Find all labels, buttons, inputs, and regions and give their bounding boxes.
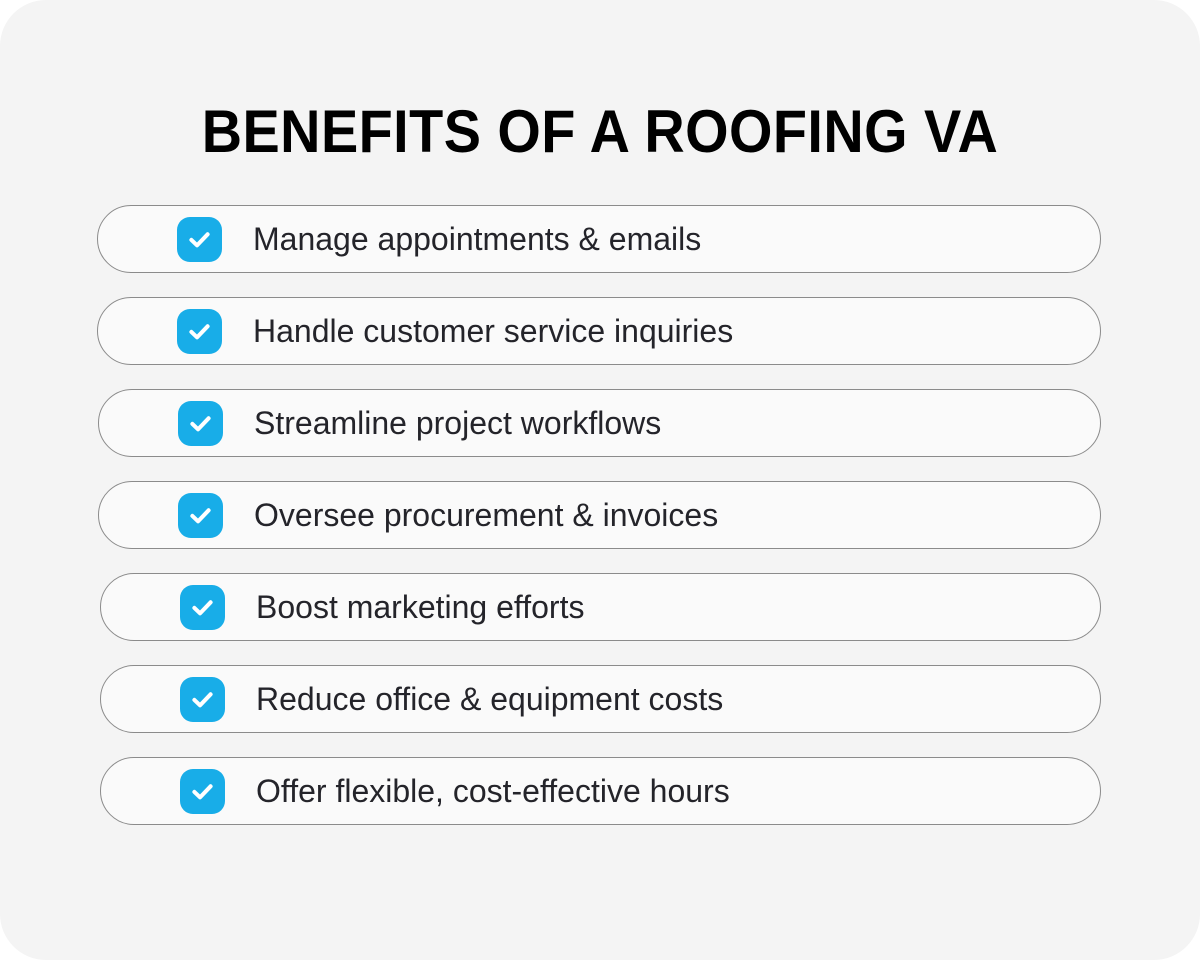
list-item[interactable]: Oversee procurement & invoices: [98, 481, 1101, 549]
check-icon: [180, 585, 225, 630]
check-icon: [177, 309, 222, 354]
list-item-label: Handle customer service inquiries: [253, 312, 733, 350]
check-icon: [180, 769, 225, 814]
list-item[interactable]: Boost marketing efforts: [100, 573, 1101, 641]
list-item-label: Streamline project workflows: [254, 404, 661, 442]
benefits-card: BENEFITS OF A ROOFING VA Manage appointm…: [0, 0, 1200, 960]
list-item[interactable]: Offer flexible, cost-effective hours: [100, 757, 1101, 825]
list-item[interactable]: Reduce office & equipment costs: [100, 665, 1101, 733]
list-item[interactable]: Handle customer service inquiries: [97, 297, 1101, 365]
check-icon: [177, 217, 222, 262]
check-icon: [180, 677, 225, 722]
list-item-label: Manage appointments & emails: [253, 220, 701, 258]
list-item-label: Offer flexible, cost-effective hours: [256, 772, 730, 810]
list-item-label: Reduce office & equipment costs: [256, 680, 723, 718]
check-icon: [178, 493, 223, 538]
check-icon: [178, 401, 223, 446]
list-item[interactable]: Streamline project workflows: [98, 389, 1101, 457]
list-item-label: Oversee procurement & invoices: [254, 496, 718, 534]
benefits-list: Manage appointments & emails Handle cust…: [0, 205, 1200, 825]
page-title: BENEFITS OF A ROOFING VA: [42, 96, 1158, 168]
list-item[interactable]: Manage appointments & emails: [97, 205, 1101, 273]
list-item-label: Boost marketing efforts: [256, 588, 584, 626]
